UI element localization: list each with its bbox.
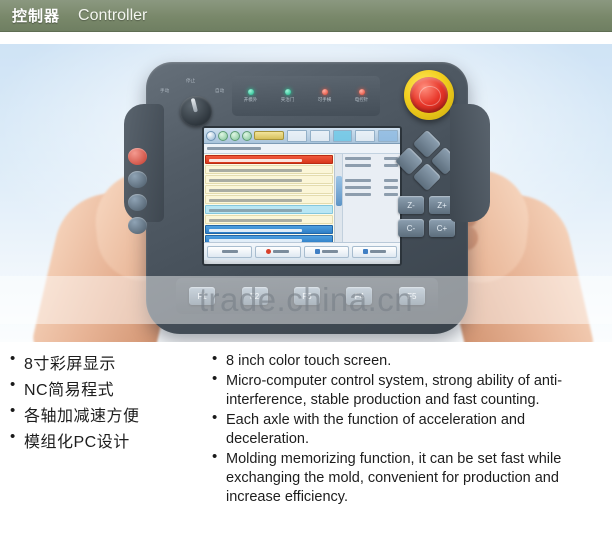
knob-dial[interactable] (180, 96, 212, 126)
led-indicator: 开模外 (244, 89, 258, 103)
section-features: 8寸彩屏显示 NC简易程式 各轴加减速方便 模组化PC设计 8 inch col… (0, 348, 612, 538)
screen-footer-toolbar (204, 242, 400, 260)
screen-footer-button-3[interactable] (304, 246, 349, 258)
screen-info-panel (342, 154, 400, 242)
list-item[interactable] (205, 195, 333, 204)
led-label: 可手横 (318, 97, 332, 103)
toolbar-field-3 (333, 130, 353, 142)
led-indicator: 可手横 (318, 89, 332, 103)
led-label: 开模外 (244, 97, 258, 103)
list-item[interactable] (205, 165, 333, 174)
emergency-stop-button[interactable] (404, 70, 454, 120)
knob-label-stop: 停止 (186, 78, 195, 84)
grip-button-group (128, 148, 158, 240)
toolbar-field-1 (287, 130, 307, 142)
toolbar-status-pill (254, 131, 284, 140)
grip-button-3[interactable] (128, 217, 147, 234)
led-label: 电控针 (355, 97, 369, 103)
watermark: trade.china.cn (0, 276, 612, 324)
led-indicator-panel: 开模外 夹治门 可手横 电控针 (232, 76, 380, 116)
grip-button-1[interactable] (128, 171, 147, 188)
led-green-icon (285, 89, 291, 95)
axis-key-z-plus[interactable]: Z+ (429, 196, 455, 214)
knob-label-manual: 手动 (160, 88, 169, 94)
feature-item-cn: NC简易程式 (10, 378, 200, 404)
toolbar-field-2 (310, 130, 330, 142)
product-photo: 手动 停止 自动 开模外 夹治门 可手横 (0, 44, 612, 342)
led-red-icon (359, 89, 365, 95)
toolbar-icon-3[interactable] (230, 131, 240, 141)
lcd-touch-screen[interactable] (202, 126, 402, 266)
toolbar-icon-1[interactable] (206, 131, 216, 141)
feature-list-cn: 8寸彩屏显示 NC简易程式 各轴加减速方便 模组化PC设计 (10, 352, 200, 456)
feature-item-en: 8 inch color touch screen. (212, 352, 602, 371)
screen-breadcrumb (204, 144, 400, 154)
info-row (345, 179, 398, 182)
led-indicator: 电控针 (355, 89, 369, 103)
list-item[interactable] (205, 185, 333, 194)
grip-button-red[interactable] (128, 148, 147, 165)
scrollbar-thumb[interactable] (336, 176, 342, 206)
list-item[interactable] (205, 175, 333, 184)
axis-key-z-minus[interactable]: Z- (398, 196, 424, 214)
screen-program-list[interactable] (204, 154, 334, 242)
screen-footer-button-1[interactable] (207, 246, 252, 258)
section-header: 控制器 Controller (0, 0, 612, 32)
knob-label-auto: 自动 (215, 88, 224, 94)
header-title-en: Controller (78, 7, 147, 25)
info-row (345, 164, 398, 167)
toolbar-field-4 (355, 130, 375, 142)
screen-scrollbar[interactable] (334, 154, 342, 242)
screen-body (204, 154, 400, 242)
screen-toolbar (204, 128, 400, 144)
led-green-icon (248, 89, 254, 95)
list-item[interactable] (205, 205, 333, 214)
feature-list-en: 8 inch color touch screen. Micro-compute… (212, 352, 602, 508)
led-red-icon (322, 89, 328, 95)
info-row (345, 186, 398, 189)
feature-item-cn: 8寸彩屏显示 (10, 352, 200, 378)
screen-footer-button-4[interactable] (352, 246, 397, 258)
feature-item-cn: 模组化PC设计 (10, 430, 200, 456)
info-row (345, 193, 398, 196)
page-root: 控制器 Controller 手动 停止 自动 (0, 0, 612, 538)
led-indicator: 夹治门 (281, 89, 295, 103)
axis-key-group: Z- Z+ C- C+ (398, 196, 456, 237)
screen-footer-button-2[interactable] (255, 246, 300, 258)
knob-pointer-icon (191, 98, 198, 113)
grip-button-2[interactable] (128, 194, 147, 211)
list-item[interactable] (205, 235, 333, 242)
feature-item-en: Each axle with the function of accelerat… (212, 411, 602, 449)
axis-key-c-minus[interactable]: C- (398, 219, 424, 237)
header-title-cn: 控制器 (12, 5, 60, 26)
led-label: 夹治门 (281, 97, 295, 103)
toolbar-field-5 (378, 130, 398, 142)
emergency-stop-cap-icon (410, 77, 448, 113)
directional-pad (398, 134, 456, 186)
list-item[interactable] (205, 215, 333, 224)
axis-key-c-plus[interactable]: C+ (429, 219, 455, 237)
mode-selector-knob[interactable]: 手动 停止 自动 (160, 74, 236, 132)
list-item[interactable] (205, 155, 333, 164)
list-item[interactable] (205, 225, 333, 234)
feature-item-cn: 各轴加减速方便 (10, 404, 200, 430)
feature-item-en: Micro-computer control system, strong ab… (212, 372, 602, 410)
toolbar-icon-4[interactable] (242, 131, 252, 141)
info-row (345, 157, 398, 160)
toolbar-icon-2[interactable] (218, 131, 228, 141)
feature-item-en: Molding memorizing function, it can be s… (212, 450, 602, 507)
